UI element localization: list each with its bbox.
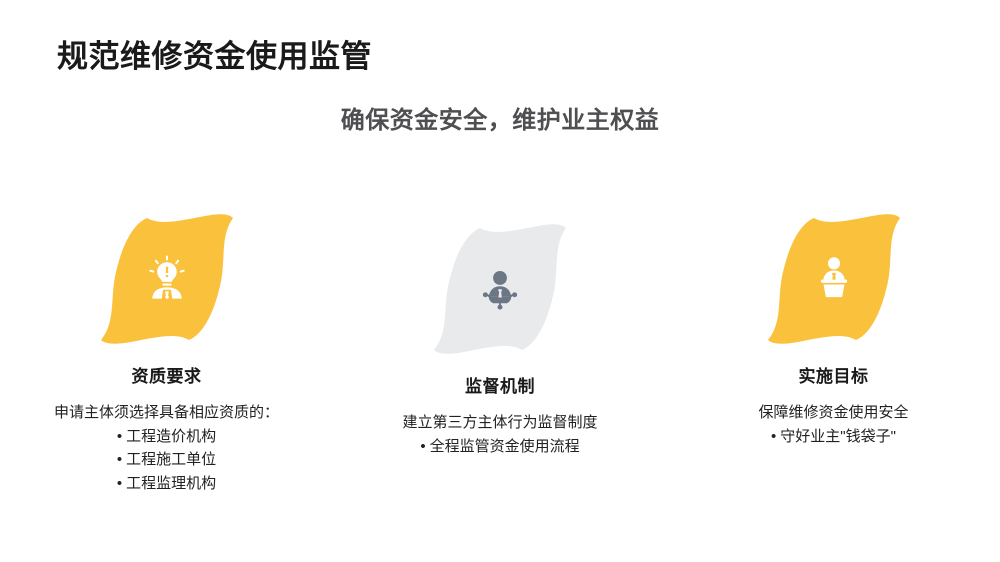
- content-columns: 资质要求 申请主体须选择具备相应资质的： 工程造价机构 工程施工单位 工程监理机…: [0, 200, 1000, 530]
- list-item: 全程监管资金使用流程: [402, 435, 597, 459]
- speaker-podium-icon: [811, 254, 857, 300]
- column-heading: 实施目标: [799, 362, 869, 387]
- content-column-supervision: 监督机制 建立第三方主体行为监督制度 全程监管资金使用流程: [334, 200, 667, 530]
- column-body: 保障维修资金使用安全 守好业主"钱袋子": [758, 401, 908, 448]
- banner-icon-supervision: [420, 210, 580, 360]
- column-bullet-list: 守好业主"钱袋子": [758, 425, 908, 449]
- content-column-goal: 实施目标 保障维修资金使用安全 守好业主"钱袋子": [667, 200, 1000, 530]
- column-lead-text: 申请主体须选择具备相应资质的：: [54, 401, 279, 425]
- page-title: 规范维修资金使用监管: [57, 38, 372, 75]
- content-column-qualification: 资质要求 申请主体须选择具备相应资质的： 工程造价机构 工程施工单位 工程监理机…: [0, 200, 333, 530]
- column-bullet-list: 全程监管资金使用流程: [402, 435, 597, 459]
- list-item: 工程监理机构: [54, 472, 279, 496]
- presentation-slide: 规范维修资金使用监管 确保资金安全，维护业主权益: [0, 0, 1000, 562]
- column-body: 建立第三方主体行为监督制度 全程监管资金使用流程: [402, 411, 597, 458]
- column-body: 申请主体须选择具备相应资质的： 工程造价机构 工程施工单位 工程监理机构: [54, 401, 279, 496]
- banner-icon-goal: [754, 200, 914, 350]
- lightbulb-person-icon: [144, 254, 190, 300]
- list-item: 守好业主"钱袋子": [758, 425, 908, 449]
- column-bullet-list: 工程造价机构 工程施工单位 工程监理机构: [54, 425, 279, 496]
- list-item: 工程造价机构: [54, 425, 279, 449]
- column-lead-text: 建立第三方主体行为监督制度: [402, 411, 597, 435]
- supervision-person-network-icon: [477, 265, 523, 311]
- column-heading: 监督机制: [465, 372, 535, 397]
- column-heading: 资质要求: [132, 362, 202, 387]
- column-lead-text: 保障维修资金使用安全: [758, 401, 908, 425]
- banner-icon-qualification: [87, 200, 247, 350]
- page-subtitle: 确保资金安全，维护业主权益: [0, 100, 1000, 135]
- list-item: 工程施工单位: [54, 448, 279, 472]
